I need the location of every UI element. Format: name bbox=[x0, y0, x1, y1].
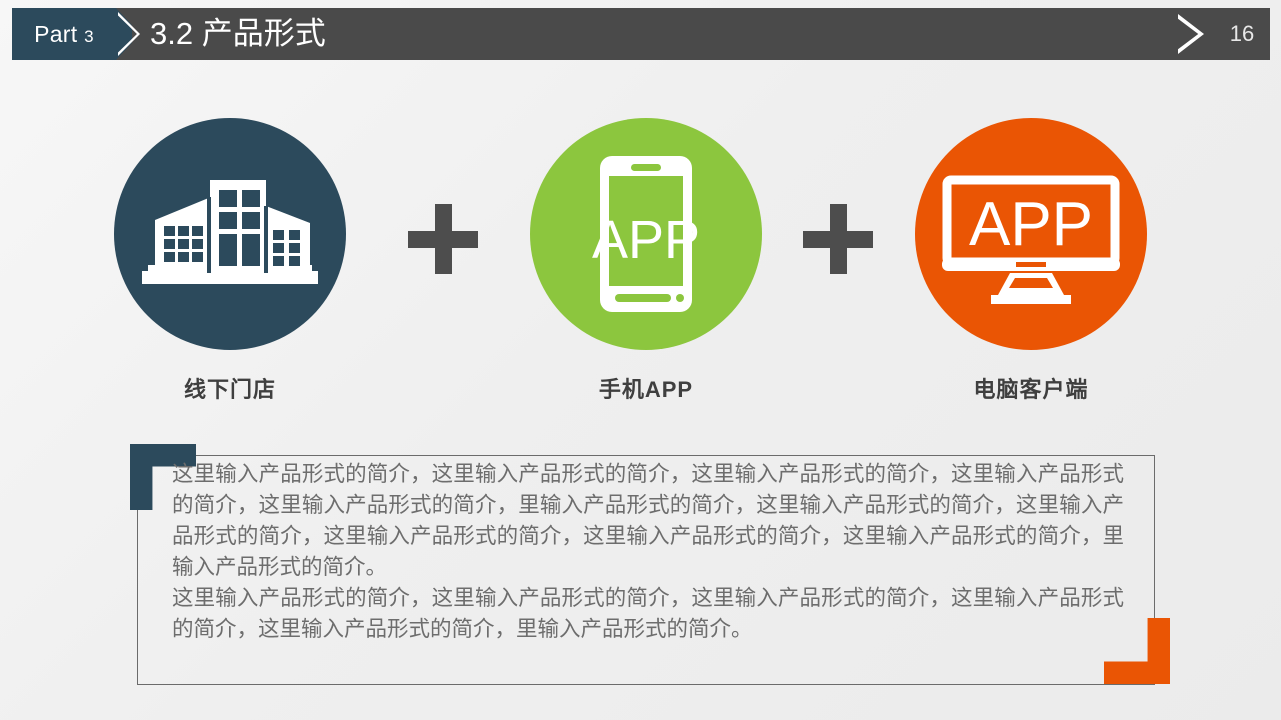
product-form-item-offline-store[interactable]: 线下门店 bbox=[110, 118, 350, 404]
product-form-icon-row: 线下门店 APP 手机APP bbox=[0, 118, 1281, 418]
chevron-right-icon-right bbox=[1178, 14, 1204, 54]
product-form-item-mobile-app[interactable]: APP 手机APP bbox=[526, 118, 766, 404]
product-form-label-mobile-app: 手机APP bbox=[526, 372, 766, 404]
product-form-item-desktop-client[interactable]: APP 电脑客户端 bbox=[911, 118, 1151, 404]
header-part-label: Part 3 bbox=[12, 8, 116, 60]
plus-icon-1 bbox=[408, 204, 478, 274]
svg-text:APP: APP bbox=[592, 210, 700, 270]
description-paragraph-1: 这里输入产品形式的简介，这里输入产品形式的简介，这里输入产品形式的简介，这里输入… bbox=[172, 459, 1124, 583]
page-title: 3.2 产品形式 bbox=[150, 8, 326, 60]
product-form-label-desktop-client: 电脑客户端 bbox=[911, 372, 1151, 404]
description-box-wrapper: 这里输入产品形式的简介，这里输入产品形式的简介，这里输入产品形式的简介，这里输入… bbox=[120, 430, 1180, 700]
product-form-label-offline-store: 线下门店 bbox=[110, 372, 350, 404]
desktop-monitor-app-icon: APP bbox=[915, 118, 1147, 350]
smartphone-app-icon: APP bbox=[530, 118, 762, 350]
plus-icon-2 bbox=[803, 204, 873, 274]
description-paragraph-2: 这里输入产品形式的简介，这里输入产品形式的简介，这里输入产品形式的简介，这里输入… bbox=[172, 583, 1124, 645]
header-part-number: 3 bbox=[84, 27, 94, 46]
slide: Part 3 3.2 产品形式 16 bbox=[0, 0, 1281, 720]
page-number: 16 bbox=[1214, 8, 1270, 60]
slide-header: Part 3 3.2 产品形式 16 bbox=[12, 8, 1270, 60]
description-text: 这里输入产品形式的简介，这里输入产品形式的简介，这里输入产品形式的简介，这里输入… bbox=[172, 459, 1124, 645]
building-icon bbox=[114, 118, 346, 350]
chevron-right-icon-left bbox=[112, 8, 148, 60]
header-part-word: Part bbox=[34, 21, 77, 47]
svg-text:APP: APP bbox=[969, 190, 1093, 259]
